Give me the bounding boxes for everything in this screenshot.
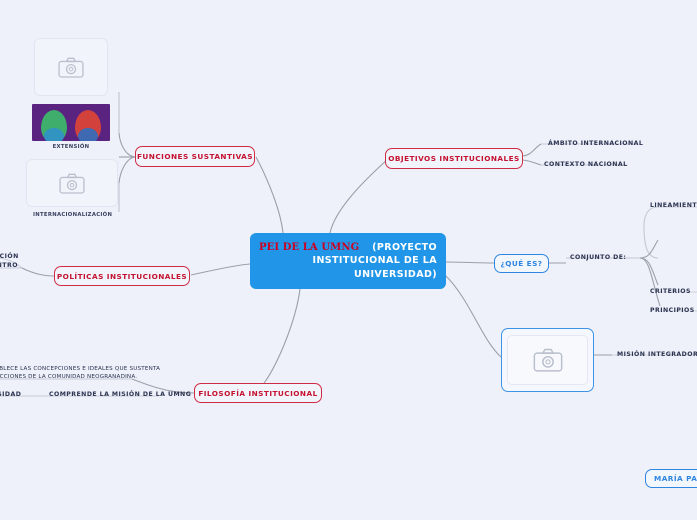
mindmap-canvas: PEI DE LA UMNG (PROYECTO INSTITUCIONAL D… — [0, 0, 697, 520]
leaf-politicas-evolucion: LUCIÓN — [0, 253, 19, 260]
leaf-conjunto-de: CONJUNTO DE: — [570, 254, 626, 261]
leaf-mision-integradora: MISIÓN INTEGRADORA D — [617, 351, 697, 358]
node-funciones-sustantivas[interactable]: FUNCIONES SUSTANTIVAS — [135, 146, 255, 167]
leaf-criterios: CRITERIOS — [650, 288, 691, 295]
camera-icon — [58, 57, 84, 78]
leaf-filosofia-universidad: RSIDAD — [0, 391, 21, 398]
node-politicas-institucionales-label: POLÍTICAS INSTITUCIONALES — [57, 272, 187, 281]
node-author[interactable]: MARÍA PAU — [645, 469, 697, 488]
central-node-text: PEI DE LA UMNG (PROYECTO INSTITUCIONAL D… — [259, 241, 437, 282]
central-node-highlight: PEI DE LA UMNG — [259, 241, 359, 255]
image-card-extension[interactable]: EXTENSIÓN — [30, 104, 112, 150]
leaf-filosofia-acciones: S ACCIONES DE LA COMUNIDAD NEOGRANADINA. — [0, 373, 137, 382]
node-objetivos-institucionales-label: OBJETIVOS INSTITUCIONALES — [388, 154, 520, 163]
leaf-politicas-dentro: ENTRO — [0, 262, 18, 269]
node-que-es-label: ¿QUÉ ES? — [501, 259, 543, 268]
camera-icon — [59, 173, 85, 194]
node-author-label: MARÍA PAU — [654, 474, 697, 483]
leaf-filosofia-comprende-mision: COMPRENDE LA MISIÓN DE LA UMNG — [49, 391, 191, 398]
image-card-mision-integradora[interactable] — [501, 328, 594, 392]
leaf-principios-y-valores: PRINCIPIOS Y V — [650, 307, 697, 314]
leaf-ambito-internacional: ÁMBITO INTERNACIONAL — [548, 140, 643, 147]
image-card-internacionalizacion-caption: INTERNACIONALIZACIÓN — [33, 212, 112, 218]
image-card-inner — [507, 335, 588, 385]
node-objetivos-institucionales[interactable]: OBJETIVOS INSTITUCIONALES — [385, 148, 523, 169]
leaf-lineamientos: LINEAMIENTOS — [650, 202, 697, 209]
node-filosofia-institucional-label: FILOSOFÍA INSTITUCIONAL — [198, 389, 317, 398]
camera-icon — [533, 348, 563, 372]
node-politicas-institucionales[interactable]: POLÍTICAS INSTITUCIONALES — [54, 266, 190, 286]
image-card-funciones-1[interactable] — [34, 38, 108, 96]
central-node[interactable]: PEI DE LA UMNG (PROYECTO INSTITUCIONAL D… — [250, 233, 446, 289]
brains-image — [32, 104, 110, 141]
node-filosofia-institucional[interactable]: FILOSOFÍA INSTITUCIONAL — [194, 383, 322, 403]
image-card-internacionalizacion[interactable] — [26, 159, 118, 207]
leaf-contexto-nacional: CONTEXTO NACIONAL — [544, 161, 627, 168]
image-card-extension-caption: EXTENSIÓN — [53, 144, 90, 150]
node-funciones-sustantivas-label: FUNCIONES SUSTANTIVAS — [137, 152, 253, 161]
node-que-es[interactable]: ¿QUÉ ES? — [494, 254, 549, 273]
